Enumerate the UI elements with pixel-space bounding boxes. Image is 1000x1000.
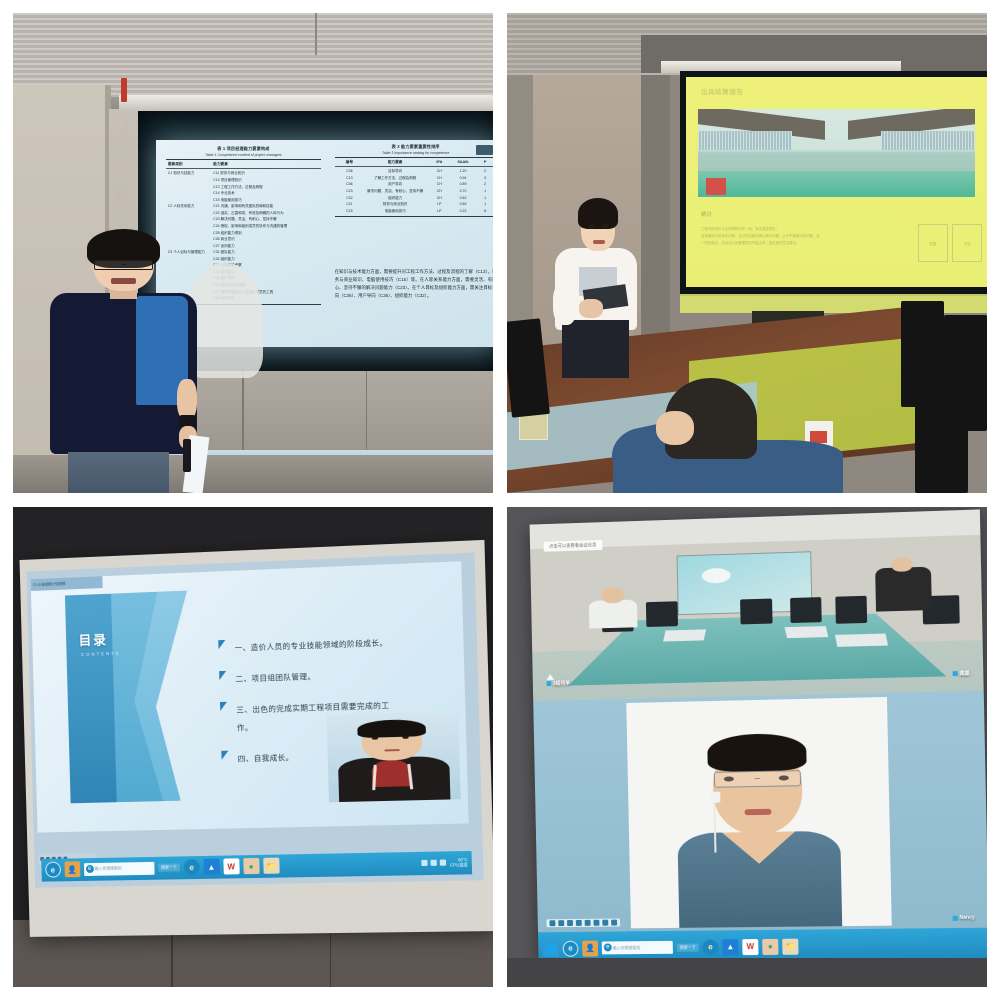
- speaker-video-card: [626, 697, 892, 929]
- col-header-ipa: IPA: [428, 160, 450, 165]
- floor: [507, 958, 987, 987]
- taskbar-spacer: [283, 864, 417, 866]
- forearm: [177, 379, 197, 420]
- volume-icon[interactable]: [421, 860, 427, 866]
- speaker-hair: [707, 733, 807, 771]
- mic-icon: [952, 671, 957, 676]
- webcam-overlay[interactable]: [327, 711, 462, 803]
- photo-collage: 表 1 项目经理能力要素构成 Table 1 Competence conten…: [0, 0, 1000, 1000]
- photo-bottom-left: C1小波视频介绍视频 目录 CONTENTS 一、造价人员的专业技能领域的阶段成…: [13, 507, 493, 987]
- table-cell: C12 项目管理知识: [213, 178, 319, 182]
- search-button[interactable]: 搜索一下: [158, 864, 180, 872]
- photo-top-left: 表 1 项目经理能力要素构成 Table 1 Competence conten…: [13, 13, 493, 493]
- table-cell: 电脑使用技巧: [362, 209, 428, 213]
- computer-desktop: C1小波视频介绍视频 目录 CONTENTS 一、造价人员的专业技能领域的阶段成…: [27, 552, 484, 888]
- table-cell: 0.94: [450, 176, 475, 180]
- triangle-bullet-icon: [222, 751, 229, 760]
- gallery-feed-top[interactable]: [530, 509, 984, 700]
- table-cell: C24 授权、影响和组织成员的协作与沟通的管理: [213, 224, 319, 228]
- table-right: 表 3 能力要素重要性排序 Table 3 Importance ranking…: [335, 144, 493, 219]
- remote-participant-head: [601, 587, 623, 604]
- table-cell: C11 财务与商业知识: [213, 171, 319, 175]
- globe-icon[interactable]: 🌐: [543, 940, 559, 956]
- hair: [578, 198, 618, 229]
- table-row: C15电脑使用技巧LP0.228: [335, 208, 493, 215]
- participant-name: Nancy: [959, 914, 974, 920]
- triangle-bullet-icon: [220, 671, 227, 680]
- lock-icon[interactable]: [558, 920, 564, 926]
- table-cell: CH: [428, 189, 450, 193]
- table-cell: CH: [428, 169, 450, 173]
- edge-icon[interactable]: e: [45, 862, 61, 878]
- table-cell: C32: [337, 196, 362, 200]
- projection-screen: 出具结算报告 统计 工程内部资料与合同等附件齐一致，有无重复项目； 结算编制中的…: [680, 71, 987, 297]
- mic-icon: [952, 915, 957, 920]
- table-right-header: 编号 能力要素 IPA SAA/b P: [335, 160, 493, 165]
- mountain-icon[interactable]: ▲: [722, 938, 738, 954]
- glasses: [94, 260, 152, 270]
- mouth: [593, 240, 605, 244]
- slide-bullets: 工程内部资料与合同等附件齐一致，有无重复项目； 结算编制中的单位问题，并对项目细…: [701, 226, 924, 246]
- bullet-3: 一同反映出，并结合公司管理层次不能主体，提出指任意见建议。: [701, 240, 924, 247]
- rule: [335, 157, 493, 158]
- slide-title: 出具结算报告: [701, 86, 744, 96]
- triangle-bullet-icon: [219, 640, 226, 649]
- table-cell: 1: [476, 202, 493, 206]
- search-input[interactable]: 输入你想搜索的: [84, 862, 155, 876]
- table-cell: 组织能力: [362, 196, 428, 200]
- slide-shape-secondary: [111, 590, 193, 802]
- mouth: [111, 278, 136, 284]
- table-cell: C13: [337, 176, 362, 180]
- active-speaker-feed[interactable]: [533, 690, 987, 934]
- table-cell: C2 人际关系能力: [168, 204, 213, 208]
- table-cell: [168, 217, 213, 221]
- apps-icon[interactable]: [611, 920, 617, 926]
- table-cell: [168, 191, 213, 195]
- eye: [402, 736, 409, 738]
- col-header-saa: SAA/b: [450, 160, 475, 165]
- bullet-2: 结算编制中的单位问题，并对项目细化确认单位问题，以干不能解决的问题，进: [701, 233, 924, 240]
- table-cell: 了解工作方法、过程及规程: [362, 176, 428, 180]
- table-left-title-cn: 表 1 项目经理能力要素构成: [166, 146, 321, 152]
- presenter-male: [47, 234, 201, 493]
- mountain-icon[interactable]: ▲: [203, 859, 219, 875]
- chair: [901, 301, 944, 407]
- people-icon[interactable]: 👤: [64, 862, 80, 878]
- rule: [335, 216, 493, 217]
- table-cell: 0.59: [450, 202, 475, 206]
- table-cell: C23 解决问题、灵活、有耐心、坚持不懈: [213, 217, 319, 221]
- remote-participant-body: [876, 567, 932, 612]
- table-cell: 2: [476, 169, 493, 173]
- table-cell: 1: [476, 189, 493, 193]
- green-app-icon[interactable]: ●: [243, 858, 259, 874]
- table-cell: C14 专业技术: [213, 191, 319, 195]
- people-icon[interactable]: 👤: [582, 940, 598, 956]
- table-cell: 3: [476, 176, 493, 180]
- chair: [915, 397, 968, 493]
- video-conference-app: 点击可以查看看会议信息 3组何羊 龚磊: [530, 509, 987, 965]
- slide-paragraph: 在知识与技术能力方面，需要提升对工程工作方法、过程及流程的了解（C13），财务与…: [335, 268, 493, 299]
- eye: [372, 737, 379, 739]
- hand: [579, 299, 603, 318]
- participant-label-1: 3组何羊: [546, 680, 570, 688]
- table-cell: C11: [337, 202, 362, 206]
- projection-board: C1小波视频介绍视频 目录 CONTENTS 一、造价人员的专业技能领域的阶段成…: [20, 540, 493, 937]
- eye: [602, 224, 608, 228]
- windows-taskbar: e 👤 输入你想搜索的 搜索一下 e ▲ W ● 📁: [41, 851, 472, 881]
- table-cell: C21 沟通、影响和有关团队的释和技能: [213, 204, 319, 208]
- table-cell: 1.20: [450, 169, 475, 173]
- slide-section-heading: 统计: [701, 210, 712, 218]
- earbud-cord: [714, 803, 717, 853]
- table-cell: CH: [428, 176, 450, 180]
- wps-icon[interactable]: W: [223, 859, 239, 875]
- table-cell: CH: [428, 196, 450, 200]
- toc-item-label: 二、项目组团队管理。: [236, 672, 316, 684]
- slide-heading-cn: 目录: [79, 629, 109, 649]
- glasses: [714, 769, 801, 787]
- folder-icon[interactable]: 📁: [263, 858, 279, 874]
- table-cell: 0.62: [450, 196, 475, 200]
- powerpoint-slide: C1小波视频介绍视频 目录 CONTENTS 一、造价人员的专业技能领域的阶段成…: [31, 561, 468, 832]
- table-cell: 0.22: [450, 209, 475, 213]
- grid-icon[interactable]: [593, 920, 599, 926]
- table-cell: C1 知识与技能力: [168, 171, 213, 175]
- refresh-icon[interactable]: [549, 920, 555, 926]
- col-header-category: 要素类别: [168, 162, 213, 167]
- mouth: [745, 809, 771, 815]
- remote-participant-head: [891, 556, 912, 571]
- layout-icon[interactable]: [602, 920, 608, 926]
- table-cell: 解决问题、灵活、有耐心、坚持不懈: [362, 189, 428, 193]
- table-cell: C25 组织能力得到: [213, 231, 319, 235]
- table-cell: C15 电脑使用技巧: [213, 198, 319, 202]
- microphone: [183, 439, 191, 473]
- webcam-person-hoodie: [371, 760, 411, 788]
- table-cell: C36: [337, 169, 362, 173]
- laptop: [835, 633, 888, 647]
- col-header-p: P: [476, 160, 493, 165]
- slide-button-content[interactable]: 内容: [952, 224, 982, 262]
- wps-icon[interactable]: W: [742, 938, 758, 954]
- col-header-element: 能力要素: [213, 162, 319, 167]
- toc-item: 二、项目组团队管理。: [219, 663, 393, 687]
- table-cell: C26 商业意识: [213, 237, 319, 241]
- cpu-temperature-readout: 66°C CPU温度: [450, 857, 468, 868]
- table-left-title-en: Table 1 Competence content of project ma…: [166, 153, 321, 157]
- speaker-indicator-icon: [546, 673, 554, 679]
- table-cell: CH: [428, 182, 450, 186]
- ie-icon[interactable]: e: [702, 939, 718, 955]
- search-input[interactable]: 输入你想搜索的: [602, 941, 673, 955]
- table-cell: 2: [476, 182, 493, 186]
- projected-slide: 出具结算报告 统计 工程内部资料与合同等附件齐一致，有无重复项目； 结算编制中的…: [686, 77, 987, 287]
- building-render-image: [698, 109, 975, 197]
- table-cell: C23: [337, 189, 362, 193]
- participant-name: 3组何羊: [553, 680, 571, 687]
- col-header-element: 能力要素: [362, 160, 428, 165]
- table-cell: 财务与商业知识: [362, 202, 428, 206]
- render-facade-left: [698, 131, 792, 150]
- table-cell: C32 组织能力: [213, 257, 319, 261]
- render-facade-right: [881, 131, 975, 150]
- table-cell: C36: [337, 182, 362, 186]
- laptop: [663, 629, 706, 641]
- render-red-accent: [706, 178, 725, 196]
- table-cell: 0.70: [450, 189, 475, 193]
- projection-screen: 点击可以查看看会议信息 3组何羊 龚磊: [530, 509, 987, 965]
- network-icon[interactable]: [431, 860, 437, 866]
- mic-icon[interactable]: [567, 920, 573, 926]
- table-cell: LP: [428, 202, 450, 206]
- render-water: [698, 171, 975, 197]
- folder-icon[interactable]: 📁: [782, 938, 798, 954]
- toc-item-label: 一、造价人员的专业技能领域的阶段成长。: [235, 638, 388, 652]
- temp-label: CPU温度: [450, 863, 468, 869]
- ie-icon[interactable]: e: [184, 860, 200, 876]
- earbud-icon: [711, 791, 720, 802]
- table-cell: LP: [428, 209, 450, 213]
- participant-label-3: Nancy: [952, 914, 975, 920]
- table-cell: [168, 211, 213, 215]
- edge-icon[interactable]: e: [563, 940, 579, 956]
- pen-icon[interactable]: [585, 920, 591, 926]
- photo-bottom-right: 点击可以查看看会议信息 3组何羊 龚磊: [507, 507, 987, 987]
- table-cell: 0.89: [450, 182, 475, 186]
- audience-hand: [656, 411, 694, 445]
- rule: [166, 159, 321, 160]
- green-app-icon[interactable]: ●: [762, 938, 778, 954]
- red-marker: [121, 78, 126, 102]
- table-cell: 8: [476, 209, 493, 213]
- toc-item-label: 四、自我成长。: [238, 753, 294, 763]
- chair: [835, 595, 867, 623]
- slide-button-scope[interactable]: 范围: [918, 224, 948, 262]
- projector-screen-housing: [119, 95, 493, 112]
- table-cell: C31 团队能力: [213, 250, 319, 254]
- chair: [790, 597, 822, 623]
- participant-name: 龚磊: [959, 670, 969, 677]
- meeting-info-tooltip[interactable]: 点击可以查看看会议信息: [543, 539, 602, 551]
- table-cell: [168, 185, 213, 189]
- triangle-bullet-icon: [220, 702, 227, 711]
- legs: [68, 452, 169, 494]
- toc-item: 一、造价人员的专业技能领域的阶段成长。: [219, 632, 393, 656]
- chair: [646, 601, 678, 627]
- window-title: C1小波视频介绍视频: [31, 576, 102, 592]
- table-cell: C27 谈判能力: [213, 244, 319, 248]
- table-cell: 目标导向: [362, 169, 428, 173]
- table-cell: [168, 224, 213, 228]
- table-cell: C13 工程工作方法、过程及规程: [213, 185, 319, 189]
- table-left-header: 要素类别 能力要素: [166, 162, 321, 167]
- table-cell: [168, 178, 213, 182]
- laptop: [785, 625, 828, 637]
- table-cell: [168, 198, 213, 202]
- search-button[interactable]: 搜索一下: [677, 943, 699, 951]
- mic-icon: [546, 681, 551, 686]
- skirt: [562, 320, 629, 378]
- table-right-title-cn: 表 3 能力要素重要性排序: [335, 144, 493, 150]
- col-header-id: 编号: [337, 160, 362, 165]
- participant-label-2: 龚磊: [952, 670, 970, 678]
- table-cell: 1: [476, 196, 493, 200]
- photo-top-right: 出具结算报告 统计 工程内部资料与合同等附件齐一致，有无重复项目； 结算编制中的…: [507, 13, 987, 493]
- bullet-1: 工程内部资料与合同等附件齐一致，有无重复项目；: [701, 226, 924, 233]
- table-cell: C22 诚实、正直和坦、有效及明确的人际行为: [213, 211, 319, 215]
- arm: [553, 282, 577, 325]
- music-icon[interactable]: [576, 920, 582, 926]
- table-cell: C15: [337, 209, 362, 213]
- meeting-control-bar[interactable]: [547, 919, 621, 928]
- help-icon[interactable]: [440, 860, 446, 866]
- system-tray[interactable]: [421, 860, 446, 867]
- chair: [740, 598, 772, 624]
- table-right-title-en: Table 3 Importance ranking for competenc…: [335, 151, 493, 155]
- table-cell: 用户导向: [362, 182, 428, 186]
- eye: [589, 224, 595, 228]
